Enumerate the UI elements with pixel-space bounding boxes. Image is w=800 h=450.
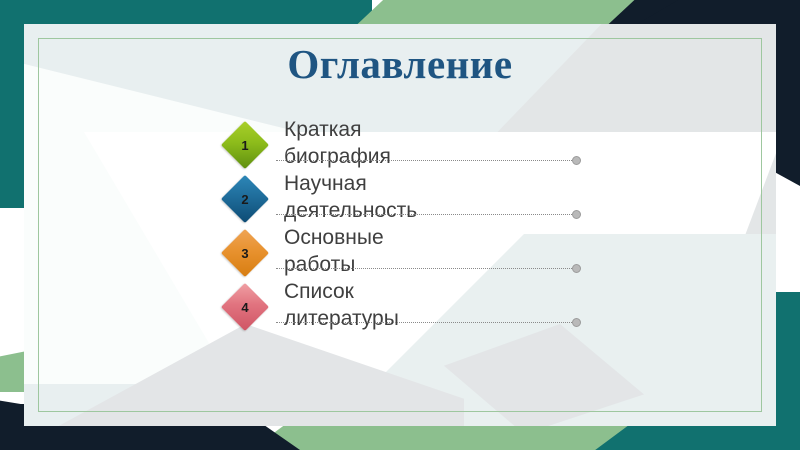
table-of-contents: 1 Краткая биография 2 Научная деятельнос… <box>228 124 588 340</box>
toc-number-4: 4 <box>228 290 262 324</box>
toc-leader-dots-4 <box>276 322 576 324</box>
toc-number-3: 3 <box>228 236 262 270</box>
toc-number-badge-3: 3 <box>221 229 269 277</box>
presentation-slide: Оглавление 1 Краткая биография 2 Научная… <box>0 0 800 450</box>
toc-number-1: 1 <box>228 128 262 162</box>
slide-title: Оглавление <box>0 40 800 88</box>
toc-leader-dots-3 <box>276 268 576 270</box>
toc-leader-end-marker-3 <box>572 264 581 273</box>
toc-item-4[interactable]: 4 Список литературы <box>228 286 588 340</box>
toc-leader-end-marker-4 <box>572 318 581 327</box>
toc-number-badge-1: 1 <box>221 121 269 169</box>
toc-leader-dots-2 <box>276 214 576 216</box>
toc-item-1[interactable]: 1 Краткая биография <box>228 124 588 178</box>
toc-number-badge-4: 4 <box>221 283 269 331</box>
toc-leader-dots-1 <box>276 160 576 162</box>
toc-item-3[interactable]: 3 Основные работы <box>228 232 588 286</box>
toc-number-2: 2 <box>228 182 262 216</box>
toc-leader-end-marker-1 <box>572 156 581 165</box>
toc-leader-end-marker-2 <box>572 210 581 219</box>
toc-item-2[interactable]: 2 Научная деятельность <box>228 178 588 232</box>
toc-number-badge-2: 2 <box>221 175 269 223</box>
